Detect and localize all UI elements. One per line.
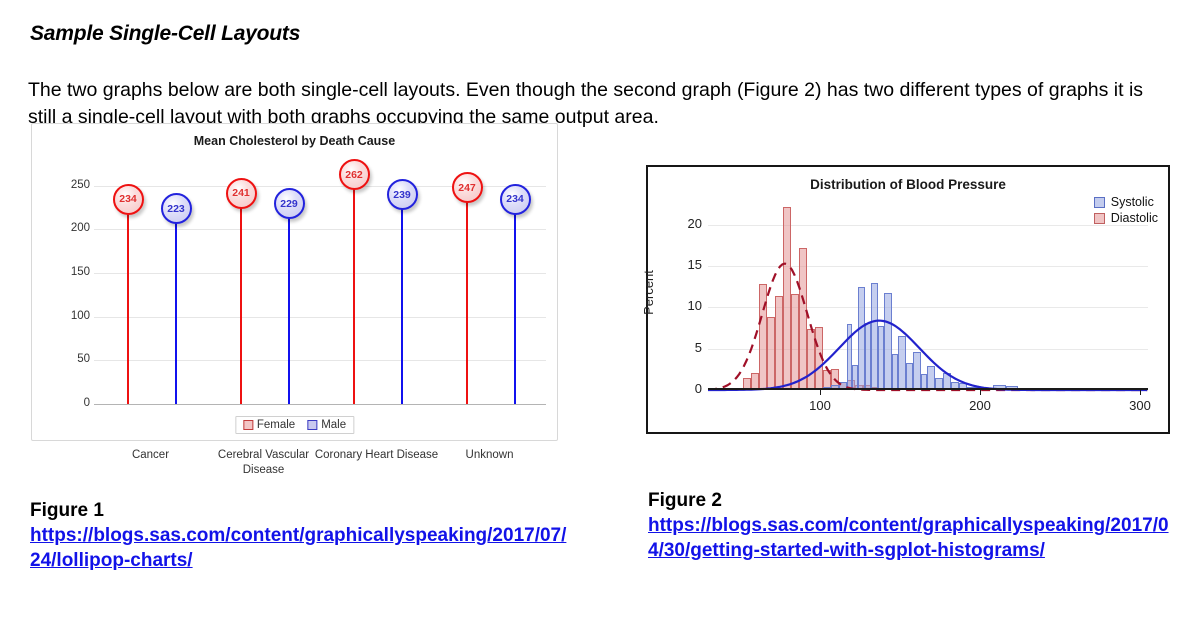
lollipop-chart-title: Mean Cholesterol by Death Cause xyxy=(32,134,557,148)
lollipop-chart-panel: Mean Cholesterol by Death Cause 05010015… xyxy=(31,123,558,441)
page-title: Sample Single-Cell Layouts xyxy=(30,22,300,46)
histogram-chart-panel: Distribution of Blood Pressure Percent 0… xyxy=(646,165,1170,434)
document-page: Sample Single-Cell Layouts The two graph… xyxy=(0,0,1192,628)
gridline xyxy=(94,273,546,274)
lollipop-marker[interactable]: 234 xyxy=(113,184,144,215)
lollipop-marker[interactable]: 262 xyxy=(339,159,370,190)
lollipop-stem xyxy=(514,200,516,404)
density-curves xyxy=(708,200,1148,390)
figure2-caption: Figure 2 https://blogs.sas.com/content/g… xyxy=(648,488,1173,563)
x-axis-category-label: Cerebral Vascular Disease xyxy=(199,448,329,478)
y-axis-tick-label: 250 xyxy=(50,179,90,191)
diastolic-density-curve xyxy=(708,264,1147,390)
x-axis-tick-mark xyxy=(820,390,821,395)
x-axis-tick-mark xyxy=(1140,390,1141,395)
histogram-chart-title: Distribution of Blood Pressure xyxy=(648,177,1168,192)
lollipop-marker[interactable]: 223 xyxy=(161,193,192,224)
lollipop-stem xyxy=(240,194,242,404)
legend-item-diastolic: Diastolic xyxy=(1094,210,1158,226)
y-axis-tick-label: 100 xyxy=(50,310,90,322)
legend-label-female: Female xyxy=(257,419,295,431)
y-axis-tick-label: 0 xyxy=(666,381,702,396)
lollipop-stem xyxy=(401,195,403,404)
x-axis-category-label: Coronary Heart Disease xyxy=(312,448,442,463)
x-axis-tick-mark xyxy=(980,390,981,395)
systolic-density-curve xyxy=(708,321,1147,390)
y-axis-tick-label: 200 xyxy=(50,222,90,234)
figure1-link[interactable]: https://blogs.sas.com/content/graphicall… xyxy=(30,523,575,573)
figure2-label: Figure 2 xyxy=(648,488,1173,513)
legend-label-male: Male xyxy=(321,419,346,431)
male-swatch-icon xyxy=(307,420,317,430)
lollipop-marker[interactable]: 229 xyxy=(274,188,305,219)
lollipop-legend: Female Male xyxy=(235,416,354,434)
legend-label-diastolic: Diastolic xyxy=(1111,210,1158,226)
lollipop-marker[interactable]: 239 xyxy=(387,179,418,210)
x-axis-category-label: Cancer xyxy=(86,448,216,463)
gridline xyxy=(94,404,546,405)
y-axis-tick-label: 15 xyxy=(666,257,702,272)
female-swatch-icon xyxy=(243,420,253,430)
lollipop-marker[interactable]: 241 xyxy=(226,178,257,209)
y-axis-tick-label: 20 xyxy=(666,216,702,231)
y-axis-tick-label: 50 xyxy=(50,353,90,365)
lollipop-plot-area: 050100150200250234223Cancer241229Cerebra… xyxy=(94,164,546,404)
x-axis-tick-label: 100 xyxy=(790,398,850,413)
systolic-swatch-icon xyxy=(1094,197,1105,208)
lollipop-marker[interactable]: 234 xyxy=(500,184,531,215)
histogram-legend: Systolic Diastolic xyxy=(1094,194,1158,226)
legend-item-male: Male xyxy=(307,419,346,431)
histogram-y-axis-label: Percent xyxy=(641,270,656,315)
y-axis-tick-label: 0 xyxy=(50,397,90,409)
gridline xyxy=(94,317,546,318)
x-axis-line xyxy=(708,388,1148,390)
lollipop-stem xyxy=(175,209,177,404)
figure1-caption: Figure 1 https://blogs.sas.com/content/g… xyxy=(30,498,575,573)
legend-item-systolic: Systolic xyxy=(1094,194,1158,210)
lollipop-stem xyxy=(288,204,290,404)
y-axis-tick-label: 150 xyxy=(50,266,90,278)
legend-label-systolic: Systolic xyxy=(1111,194,1154,210)
lollipop-marker[interactable]: 247 xyxy=(452,172,483,203)
diastolic-swatch-icon xyxy=(1094,213,1105,224)
lollipop-stem xyxy=(127,200,129,404)
lollipop-stem xyxy=(466,188,468,404)
lollipop-stem xyxy=(353,175,355,404)
x-axis-category-label: Unknown xyxy=(425,448,555,463)
x-axis-tick-label: 200 xyxy=(950,398,1010,413)
y-axis-tick-label: 5 xyxy=(666,340,702,355)
gridline xyxy=(94,229,546,230)
figure2-link[interactable]: https://blogs.sas.com/content/graphicall… xyxy=(648,513,1173,563)
histogram-plot-area: 05101520100200300 xyxy=(708,200,1148,390)
x-axis-tick-label: 300 xyxy=(1110,398,1170,413)
legend-item-female: Female xyxy=(243,419,295,431)
y-axis-tick-label: 10 xyxy=(666,298,702,313)
figure1-label: Figure 1 xyxy=(30,498,575,523)
gridline xyxy=(94,360,546,361)
